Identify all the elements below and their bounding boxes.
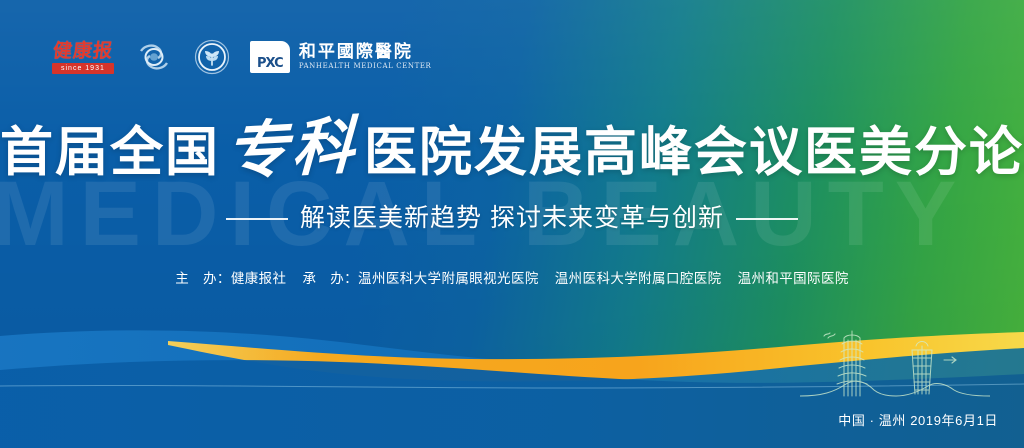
cohost-value-3: 温州和平国际医院 — [738, 271, 849, 286]
panhealth-name-cn: 和平國際醫院 — [299, 43, 432, 62]
eye-emblem-svg — [134, 37, 174, 77]
subtitle: 解读医美新趋势 探讨未来变革与创新 — [0, 203, 1024, 233]
panhealth-mark-icon: PXC — [250, 41, 290, 73]
cohost-label: 承 办： — [302, 271, 358, 286]
jiankangbao-since-badge: since 1931 — [52, 63, 114, 74]
jiankangbao-logo: 健康报 since 1931 — [52, 41, 114, 74]
subtitle-text: 解读医美新趋势 探讨未来变革与创新 — [300, 204, 724, 232]
subtitle-rule-right — [736, 218, 798, 220]
arrow-icon — [944, 357, 956, 363]
cohost-value-1: 温州医科大学附属眼视光医院 — [358, 271, 539, 286]
title-part-1: 首届全国 — [0, 123, 220, 182]
host-value: 健康报社 — [231, 271, 287, 286]
logo-strip: 健康报 since 1931 — [52, 33, 431, 81]
leaf-emblem-svg — [194, 39, 230, 75]
title-brush-word: 专科 — [219, 114, 365, 184]
page-title: 首届全国专科医院发展高峰会议医美分论坛 — [0, 118, 1024, 184]
organizers-line: 主 办：健康报社承 办：温州医科大学附属眼视光医院温州医科大学附属口腔医院温州和… — [0, 270, 1024, 288]
bird-icon — [824, 333, 835, 338]
conference-banner: MEDICAL BEAUTY 健康报 since 1931 — [0, 0, 1024, 448]
leaf-emblem-icon — [194, 39, 230, 75]
jiankangbao-logo-text: 健康报 — [52, 41, 114, 61]
host-label: 主 办： — [175, 271, 231, 286]
pagoda-right-icon — [912, 342, 932, 395]
panhealth-name-en: PANHEALTH MEDICAL CENTER — [299, 62, 432, 71]
panhealth-mark-text: PXC — [257, 56, 283, 71]
wenzhou-pagoda-skyline — [800, 322, 990, 404]
eye-emblem-icon — [134, 37, 174, 77]
panhealth-logo: PXC 和平國際醫院 PANHEALTH MEDICAL CENTER — [250, 41, 432, 73]
date-location: 中国 · 温州 2019年6月1日 — [0, 410, 998, 429]
subtitle-rule-left — [226, 218, 288, 220]
cohost-value-2: 温州医科大学附属口腔医院 — [555, 271, 722, 286]
panhealth-wordmark: 和平國際醫院 PANHEALTH MEDICAL CENTER — [299, 43, 432, 71]
title-part-2: 医院发展高峰会议医美分论坛 — [364, 123, 1024, 182]
skyline-ground-line — [800, 381, 990, 396]
